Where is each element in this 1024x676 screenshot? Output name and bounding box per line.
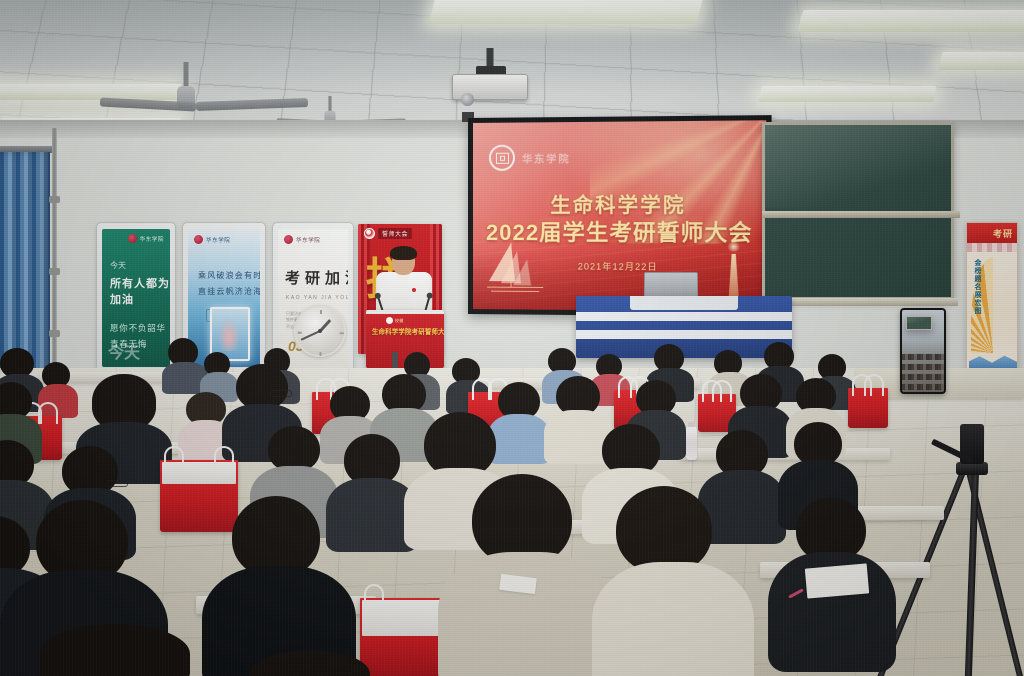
red-gift-bag: [848, 388, 888, 428]
ceiling-light-panel: [429, 0, 704, 24]
ceiling-light-panel: [797, 10, 1024, 32]
poster-blue-line-2: 直挂云帆济沧海: [198, 287, 260, 297]
right-banner-top-text: 考研: [993, 227, 1013, 240]
poster-blue-line-1: 乘风破浪会有时: [198, 271, 260, 281]
poster-university-name: 华东学院: [140, 235, 164, 243]
pipe-clip: [49, 196, 60, 203]
classroom-photo-scene: 华东学院 今天 所有人都为你 加油 愿你不负韶华 青春无悔 今天 华东学院 乘风…: [0, 0, 1024, 676]
university-seal-icon: [386, 317, 393, 324]
slide-university-name: 华东学院: [522, 150, 571, 165]
projection-screen: 华东学院 生命科学学院 2022届学生考研誓师大会 2021年12月22日: [473, 120, 766, 311]
poster-green-line-2: 所有人都为你: [110, 277, 170, 291]
podium-logo: 校徽: [386, 317, 404, 324]
green-chalkboard: [762, 122, 954, 300]
poster-university-logo: 华东学院: [284, 235, 320, 244]
red-gift-bag: [160, 460, 238, 532]
ceiling-projector-icon: [452, 62, 528, 96]
lapel-pin-icon: [412, 288, 416, 292]
university-seal-icon: [194, 235, 203, 244]
university-seal-icon: [128, 234, 137, 243]
ceiling-light-panel: [0, 84, 181, 100]
poster-white-title: 考研加油: [285, 269, 348, 289]
poster-university-logo: 华东学院: [128, 234, 164, 243]
console-monitor: [644, 272, 698, 298]
poster-green-line-1: 今天: [110, 261, 126, 271]
audience-area: [0, 330, 1024, 676]
poster-university-name: 华东学院: [296, 236, 320, 244]
notebook-paper: [805, 563, 869, 598]
chalkboard-rail: [762, 211, 960, 218]
glasses-icon: [270, 390, 292, 397]
lighthouse-graphic: [724, 242, 743, 302]
right-banner-vertical-text: 金榜题名展宏图: [972, 259, 982, 315]
projection-screen-frame: 华东学院 生命科学学院 2022届学生考研誓师大会 2021年12月22日: [468, 115, 772, 317]
ceiling: [0, 0, 1024, 132]
university-seal-icon: [364, 228, 375, 239]
slide-heading: 生命科学学院: [473, 188, 766, 218]
ceiling-light-panel: [758, 86, 936, 102]
poster-university-logo: 华东学院: [194, 235, 230, 244]
sailing-ship-graphic: [481, 241, 557, 304]
thermos-bottle: [686, 426, 697, 460]
backdrop-brand: 誓师大会: [364, 228, 412, 239]
poster-white-subtitle: KAO YAN JIA YOU: [286, 295, 348, 302]
podium-logo-label: 校徽: [395, 318, 404, 324]
slide-logo-block: 华东学院: [489, 144, 571, 171]
speaker-person: [376, 248, 432, 314]
pipe-clip: [49, 268, 60, 275]
poster-university-name: 华东学院: [206, 236, 230, 244]
glasses-icon: [106, 480, 128, 487]
poster-green-line-3: 加油: [110, 293, 134, 307]
university-seal-icon: [489, 145, 515, 171]
backdrop-brand-label: 誓师大会: [378, 228, 412, 239]
university-seal-icon: [284, 235, 293, 244]
ceiling-light-panel: [938, 52, 1024, 70]
